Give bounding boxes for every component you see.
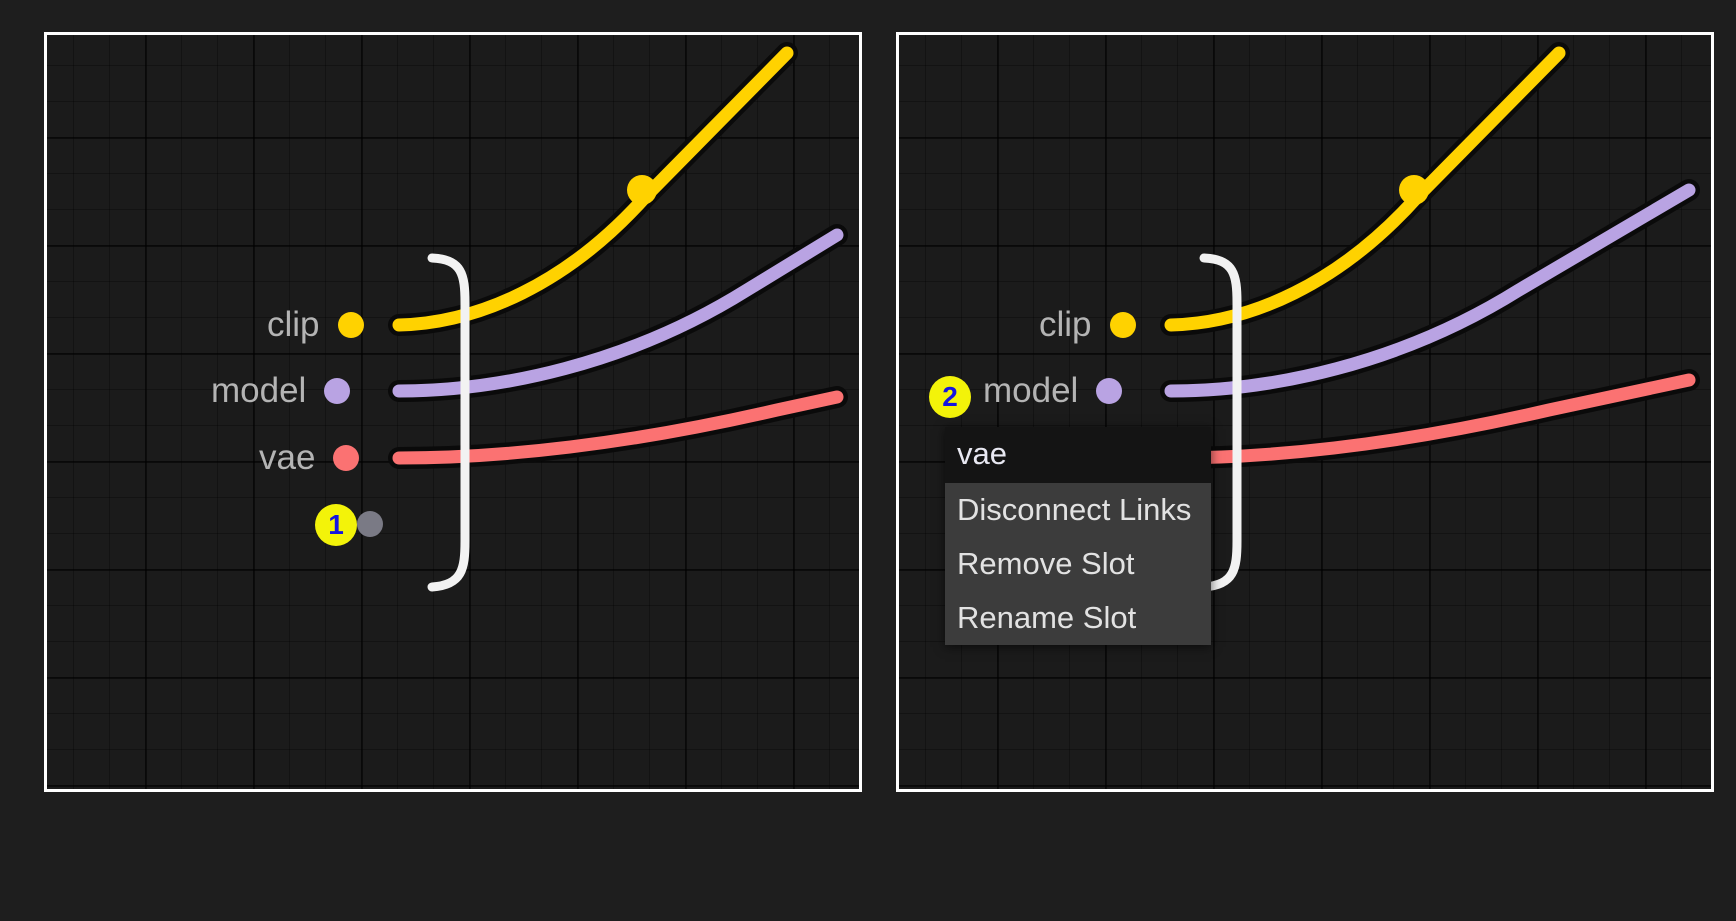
slot-label-model: model xyxy=(983,371,1078,411)
slot-dot-vae[interactable] xyxy=(333,445,359,471)
slot-row-model[interactable]: model xyxy=(211,371,350,411)
slot-label-model: model xyxy=(211,371,306,411)
step-badge-1: 1 xyxy=(315,504,357,546)
panel-after: clip model 2 vae Disconnect Links Remove… xyxy=(896,32,1714,792)
slot-label-clip: clip xyxy=(267,305,320,345)
context-menu-item-remove-slot[interactable]: Remove Slot xyxy=(945,537,1211,591)
node-graph-canvas-before[interactable] xyxy=(47,35,859,789)
slot-dot-clip[interactable] xyxy=(1110,312,1136,338)
panel-before: clip model vae 1 xyxy=(44,32,862,792)
context-menu-item-rename-slot[interactable]: Rename Slot xyxy=(945,591,1211,645)
screenshot-root: clip model vae 1 xyxy=(0,0,1736,921)
slot-row-vae[interactable]: vae xyxy=(259,438,359,478)
slot-dot-empty[interactable] xyxy=(357,511,383,537)
slot-context-menu[interactable]: vae Disconnect Links Remove Slot Rename … xyxy=(945,427,1211,645)
node-graph-canvas-after[interactable] xyxy=(899,35,1711,789)
slot-label-vae: vae xyxy=(259,438,315,478)
slot-row-clip[interactable]: clip xyxy=(1039,305,1136,345)
slot-row-empty[interactable] xyxy=(357,504,383,544)
context-menu-item-disconnect-links[interactable]: Disconnect Links xyxy=(945,483,1211,537)
slot-row-model[interactable]: model xyxy=(983,371,1122,411)
slot-label-clip: clip xyxy=(1039,305,1092,345)
slot-dot-clip[interactable] xyxy=(338,312,364,338)
context-menu-title: vae xyxy=(945,427,1211,483)
slot-dot-model[interactable] xyxy=(324,378,350,404)
slot-row-clip[interactable]: clip xyxy=(267,305,364,345)
slot-dot-model[interactable] xyxy=(1096,378,1122,404)
step-badge-2: 2 xyxy=(929,376,971,418)
